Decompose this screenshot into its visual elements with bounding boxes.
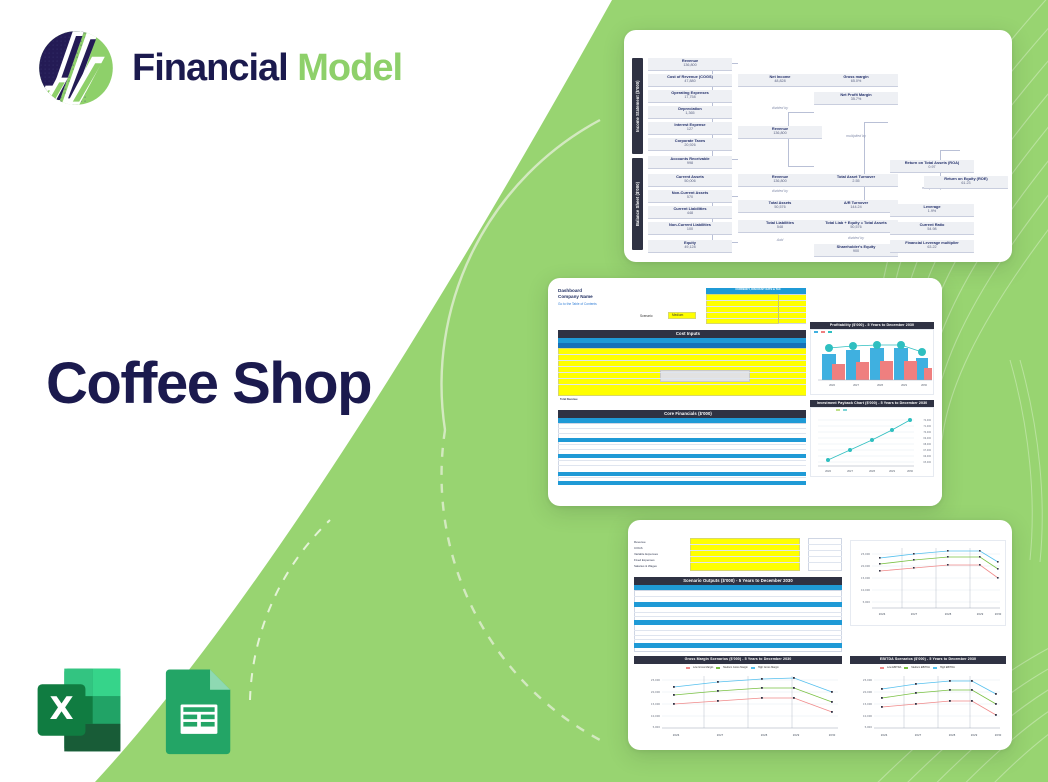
flow-node: A/R Turnover144.24 [814,200,898,213]
svg-text:2026: 2026 [881,733,888,737]
svg-text:20,000: 20,000 [863,690,872,694]
svg-text:2029: 2029 [793,733,800,737]
svg-text:69,000: 69,000 [923,437,931,440]
flow-node: Revenue136,800 [648,58,732,71]
table-title-scenario-outputs: Scenario Outputs ($'000) - 5 Years to De… [634,577,842,585]
chart-legend [814,331,832,333]
brand-lockup: Financial Model [36,28,402,108]
flow-node: Revenue136,800 [738,126,822,139]
svg-text:2026: 2026 [829,384,835,387]
chart-title-payback: Investment Payback Chart ($'000) - 5 Yea… [810,400,934,407]
flow-node: Depreciation1,365 [648,106,732,119]
table-section-row [558,481,818,485]
svg-text:2030: 2030 [907,470,913,473]
svg-text:10,000: 10,000 [651,714,660,718]
flow-node: Corporate Taxes20,926 [648,138,732,151]
flow-node: Cost of Revenue (COGS)47,880 [648,74,732,87]
app-icon-row: X [33,664,245,756]
table-section-row [558,472,818,476]
payback-line-chart: 72,00071,000 70,00069,000 68,00067,000 6… [814,414,932,476]
table-section-row [558,438,818,442]
flow-node: Total Liab + Equity = Total Assets50,576 [814,220,898,233]
svg-text:5,000: 5,000 [863,600,871,604]
flow-node: Revenue136,800 [738,174,822,187]
chart-legend: Low EBITDA Medium EBITDA High EBITDA [880,666,955,669]
ebitda-scenarios-line-chart: 25,00020,000 15,00010,000 5,000 2026202 [852,672,1004,742]
svg-text:2028: 2028 [869,470,875,473]
svg-text:2027: 2027 [717,733,724,737]
chart-legend: Low Gross Margin Medium Gross Margin Hig… [686,666,779,669]
chart-title-ebitda-scenarios: EBITDA Scenarios ($'000) - 5 Years to De… [850,656,1006,664]
scenario-label: Scenario [640,314,653,318]
brand-word-model: Model [297,47,402,89]
svg-text:2030: 2030 [829,733,836,737]
svg-text:2030: 2030 [995,733,1002,737]
microsoft-excel-icon: X [33,664,125,756]
svg-text:2026: 2026 [879,612,886,616]
flow-node: Financial Leverage multiplier63.22 [890,240,974,253]
svg-text:2028: 2028 [761,733,768,737]
svg-text:2028: 2028 [877,384,883,387]
scenario-input-cells [690,538,800,571]
flow-operator: Add [738,238,822,242]
flow-node: Non-Current Liabilities100 [648,222,732,235]
flow-node: Current Liabilities448 [648,206,732,219]
chart-legend [836,409,847,411]
svg-text:2030: 2030 [995,612,1002,616]
scenario-active-cells [808,538,842,571]
svg-text:15,000: 15,000 [861,576,870,580]
svg-text:2028: 2028 [945,612,952,616]
table-row-highlight [634,643,842,648]
flow-node: Non-Current Assets570 [648,190,732,203]
financial-ratio-flowchart-screenshot[interactable]: Income Statement ($'000) Balance Sheet (… [624,30,1012,262]
flow-operator: divided by [814,236,898,240]
flow-operator: multiplied by [814,134,898,138]
flow-node: Net Income48,828 [738,74,822,87]
scenario-input-label: COGS [634,546,643,551]
brand-word-financial: Financial [132,47,288,89]
page-title: Coffee Shop [46,355,371,413]
revenue-scenarios-line-chart: 25,00020,000 15,00010,000 5,000 2026202 [852,542,1004,624]
flow-node: Current Assets50,006 [648,174,732,187]
flow-node: Operating Expenses17,758 [648,90,732,103]
svg-text:5,000: 5,000 [865,725,873,729]
financial-model-logo-icon [36,28,116,108]
flow-node: Return on Equity (ROE)61.23 [924,176,1008,189]
chart-title-gross-margin-scenarios: Gross Margin Scenarios ($'000) - 5 Years… [634,656,842,664]
svg-text:70,000: 70,000 [923,431,931,434]
chart-title-profitability: Profitability ($'000) - 5 Years to Decem… [810,322,934,329]
svg-text:X: X [49,691,73,727]
dashboard-company-name: Company Name [558,294,593,300]
svg-text:66,000: 66,000 [923,455,931,458]
svg-text:68,000: 68,000 [923,443,931,446]
svg-text:25,000: 25,000 [861,552,870,556]
profitability-bar-line-chart: 202620272028 20292030 [814,336,932,394]
svg-text:2026: 2026 [825,470,831,473]
scenario-input-label: Variable Expenses [634,552,658,557]
svg-text:2027: 2027 [847,470,853,473]
table-total-label: Total Revenue [560,398,578,402]
flow-node: Interest Expense127 [648,122,732,135]
svg-text:2029: 2029 [971,733,978,737]
flow-node: Net Profit Margin35.7% [814,92,898,105]
svg-text:20,000: 20,000 [651,690,660,694]
flow-node: Current Ratio54.98 [890,222,974,235]
dashboard-toc-link[interactable]: Go to the Table of Contents [558,302,597,306]
svg-text:2029: 2029 [901,384,907,387]
table-title-cost-inputs: Cost Inputs [558,330,818,338]
svg-text:67,000: 67,000 [923,449,931,452]
scenario-input-label: Fixed Expenses [634,558,655,563]
brand-wordmark: Financial Model [132,49,402,87]
scenario-analysis-screenshot[interactable]: Revenue COGS Variable Expenses Fixed Exp… [628,520,1012,750]
svg-text:2029: 2029 [977,612,984,616]
svg-text:2027: 2027 [911,612,918,616]
google-sheets-icon [153,664,245,756]
flow-node: Total Assets50,576 [738,200,822,213]
flow-node: Shareholder's Equity900 [814,244,898,257]
svg-text:2027: 2027 [853,384,859,387]
table-row-highlight [634,602,842,607]
svg-text:2029: 2029 [889,470,895,473]
svg-text:2030: 2030 [921,384,927,387]
svg-text:10,000: 10,000 [861,588,870,592]
svg-text:25,000: 25,000 [651,678,660,682]
section-label-balance-sheet: Balance Sheet ($'000) [632,158,643,250]
svg-text:2026: 2026 [673,733,680,737]
gross-margin-scenarios-line-chart: 25,00020,000 15,00010,000 5,000 2026202 [636,672,842,742]
svg-text:25,000: 25,000 [863,678,872,682]
svg-text:71,000: 71,000 [923,425,931,428]
flow-node: Accounts Receivable998 [648,156,732,169]
flow-node: Total Asset Turnover2.55 [814,174,898,187]
svg-text:2027: 2027 [915,733,922,737]
svg-text:2028: 2028 [949,733,956,737]
scenario-input-label: Revenue [634,540,646,545]
svg-text:72,000: 72,000 [923,419,931,422]
scenario-input-label: Salaries & Wages [634,564,657,569]
flow-node: Equity49,128 [648,240,732,253]
section-label-income-statement: Income Statement ($'000) [632,58,643,154]
flow-node: Gross margin65.0% [814,74,898,87]
dashboard-charts-right[interactable]: Profitability ($'000) - 5 Years to Decem… [806,278,942,506]
flow-node: Total Liabilities548 [738,220,822,233]
svg-text:20,000: 20,000 [861,564,870,568]
table-title-core-financials: Core Financials ($'000) [558,410,818,418]
svg-text:65,000: 65,000 [923,461,931,464]
flow-node: Leverage1.9% [890,204,974,217]
table-section-row [558,454,818,458]
svg-text:5,000: 5,000 [653,725,661,729]
svg-text:15,000: 15,000 [651,702,660,706]
flow-operator: divided by [738,189,822,193]
flow-node: Return on Total Assets (ROA)0.97 [890,160,974,173]
svg-text:15,000: 15,000 [863,702,872,706]
table-row-highlight [634,620,842,625]
svg-text:10,000: 10,000 [863,714,872,718]
flow-operator: divided by [738,106,822,110]
scenario-value[interactable]: Medium [672,313,683,317]
